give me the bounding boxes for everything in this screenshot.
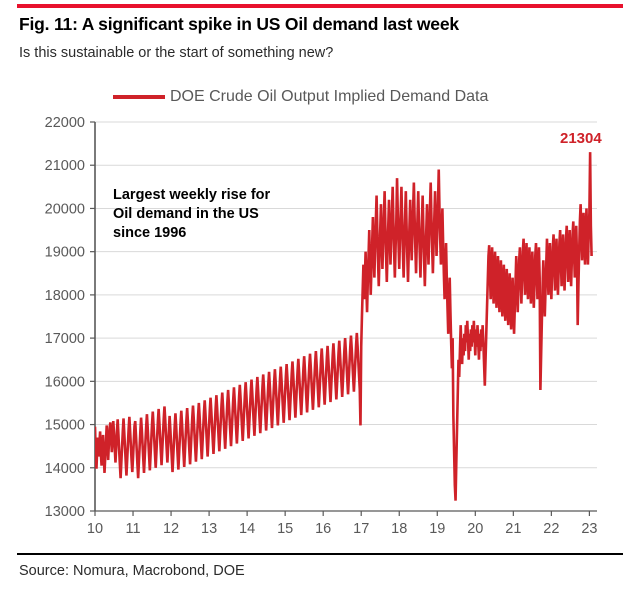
y-axis-tick-label: 19000: [45, 245, 85, 261]
x-axis-tick-label: 15: [277, 521, 293, 537]
y-axis-tick-label: 17000: [45, 331, 85, 347]
x-axis-tick-label: 16: [315, 521, 331, 537]
x-axis-tick-label: 22: [543, 521, 559, 537]
last-value-callout: 21304: [560, 130, 602, 147]
y-axis-tick-label: 13000: [45, 504, 85, 520]
x-axis-tick-label: 21: [505, 521, 521, 537]
footer-divider: [17, 553, 623, 555]
y-axis-tick-label: 15000: [45, 418, 85, 434]
y-axis-tick-label: 18000: [45, 288, 85, 304]
x-axis-tick-label: 23: [581, 521, 597, 537]
x-axis-tick-label: 17: [353, 521, 369, 537]
y-axis-tick-label: 14000: [45, 461, 85, 477]
x-axis-tick-label: 18: [391, 521, 407, 537]
x-axis-ticks-group: 1011121314151617181920212223: [87, 511, 598, 537]
x-axis-tick-label: 11: [125, 521, 140, 537]
x-axis-tick-label: 20: [467, 521, 483, 537]
x-axis-tick-label: 19: [429, 521, 445, 537]
x-axis-tick-label: 14: [239, 521, 255, 537]
y-axis-tick-label: 16000: [45, 374, 85, 390]
chart-annotation: Largest weekly rise for Oil demand in th…: [113, 186, 270, 243]
x-axis-tick-label: 12: [163, 521, 179, 537]
chart-svg: 1300014000150001600017000180001900020000…: [0, 0, 640, 594]
x-axis-tick-label: 10: [87, 521, 103, 537]
y-axis-ticks-group: 1300014000150001600017000180001900020000…: [45, 115, 95, 520]
chart-plot-area: 1300014000150001600017000180001900020000…: [0, 0, 640, 594]
source-note: Source: Nomura, Macrobond, DOE: [19, 563, 245, 579]
y-axis-tick-label: 22000: [45, 115, 85, 131]
x-axis-tick-label: 13: [201, 521, 217, 537]
y-axis-tick-label: 20000: [45, 201, 85, 217]
y-axis-tick-label: 21000: [45, 158, 85, 174]
